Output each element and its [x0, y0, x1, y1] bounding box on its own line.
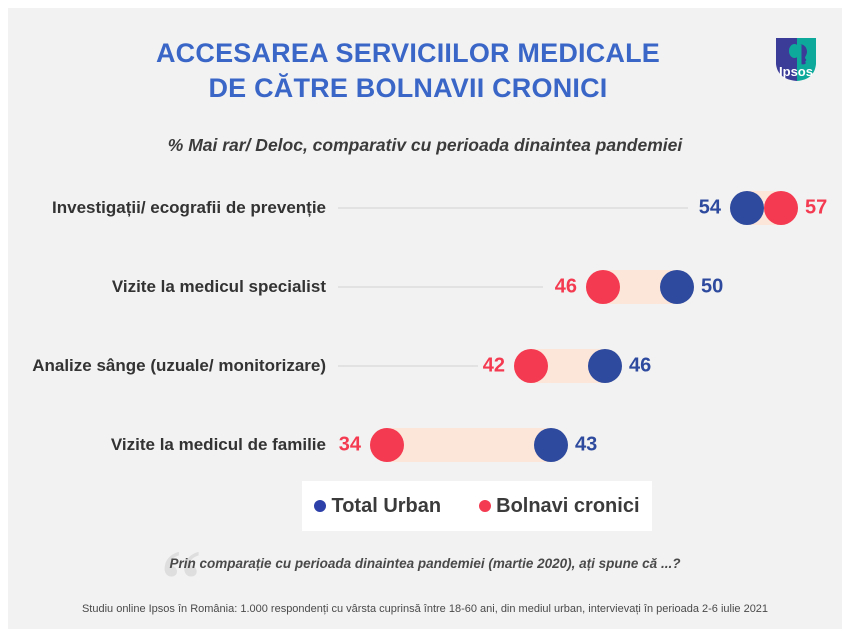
- dot-total-urban: [588, 349, 622, 383]
- chart-row: Analize sânge (uzuale/ monitorizare) 42 …: [8, 329, 842, 403]
- value-total-urban: 50: [701, 276, 723, 299]
- ipsos-logo: Ipsos: [772, 34, 822, 84]
- value-bolnavi-cronici: 34: [339, 434, 361, 457]
- value-total-urban: 43: [575, 434, 597, 457]
- chart-row: Vizite la medicul de familie 34 43: [8, 408, 842, 482]
- leader-line: [338, 208, 688, 209]
- dot-bolnavi-cronici: [370, 428, 404, 462]
- leader-line: [338, 366, 478, 367]
- value-total-urban: 54: [699, 197, 721, 220]
- chart-row: Investigații/ ecografii de prevenție 54 …: [8, 171, 842, 245]
- value-bolnavi-cronici: 42: [483, 355, 505, 378]
- dot-bolnavi-cronici: [764, 191, 798, 225]
- chart-legend: Total Urban Bolnavi cronici: [302, 481, 652, 531]
- page-title: ACCESAREA SERVICIILOR MEDICALE DE CĂTRE …: [68, 36, 748, 105]
- legend-label: Bolnavi cronici: [496, 495, 639, 518]
- slide-canvas: ACCESAREA SERVICIILOR MEDICALE DE CĂTRE …: [8, 8, 842, 629]
- row-label: Vizite la medicul specialist: [112, 277, 326, 297]
- chart-subtitle: % Mai rar/ Deloc, comparativ cu perioada…: [8, 135, 842, 156]
- chart-rows: Investigații/ ecografii de prevenție 54 …: [8, 171, 842, 471]
- row-label: Analize sânge (uzuale/ monitorizare): [32, 356, 326, 376]
- legend-dot-icon: [314, 500, 326, 512]
- dot-bolnavi-cronici: [586, 270, 620, 304]
- legend-label: Total Urban: [331, 495, 441, 518]
- quote-mark-icon: “: [160, 536, 203, 629]
- value-bolnavi-cronici: 46: [555, 276, 577, 299]
- dot-total-urban: [534, 428, 568, 462]
- row-label: Vizite la medicul de familie: [111, 435, 326, 455]
- row-label: Investigații/ ecografii de prevenție: [52, 198, 326, 218]
- source-note: Studiu online Ipsos în România: 1.000 re…: [8, 603, 842, 615]
- value-total-urban: 46: [629, 355, 651, 378]
- dot-total-urban: [660, 270, 694, 304]
- legend-dot-icon: [479, 500, 491, 512]
- svg-text:Ipsos: Ipsos: [779, 64, 813, 79]
- chart-row: Vizite la medicul specialist 46 50: [8, 250, 842, 324]
- dot-total-urban: [730, 191, 764, 225]
- dot-bolnavi-cronici: [514, 349, 548, 383]
- value-bolnavi-cronici: 57: [805, 197, 827, 220]
- leader-line: [338, 287, 543, 288]
- legend-item-total-urban: Total Urban: [314, 495, 441, 518]
- page-title-line-1: ACCESAREA SERVICIILOR MEDICALE: [68, 36, 748, 71]
- legend-item-bolnavi-cronici: Bolnavi cronici: [479, 495, 639, 518]
- page-title-line-2: DE CĂTRE BOLNAVII CRONICI: [68, 71, 748, 106]
- survey-question: Prin comparație cu perioada dinaintea pa…: [8, 556, 842, 571]
